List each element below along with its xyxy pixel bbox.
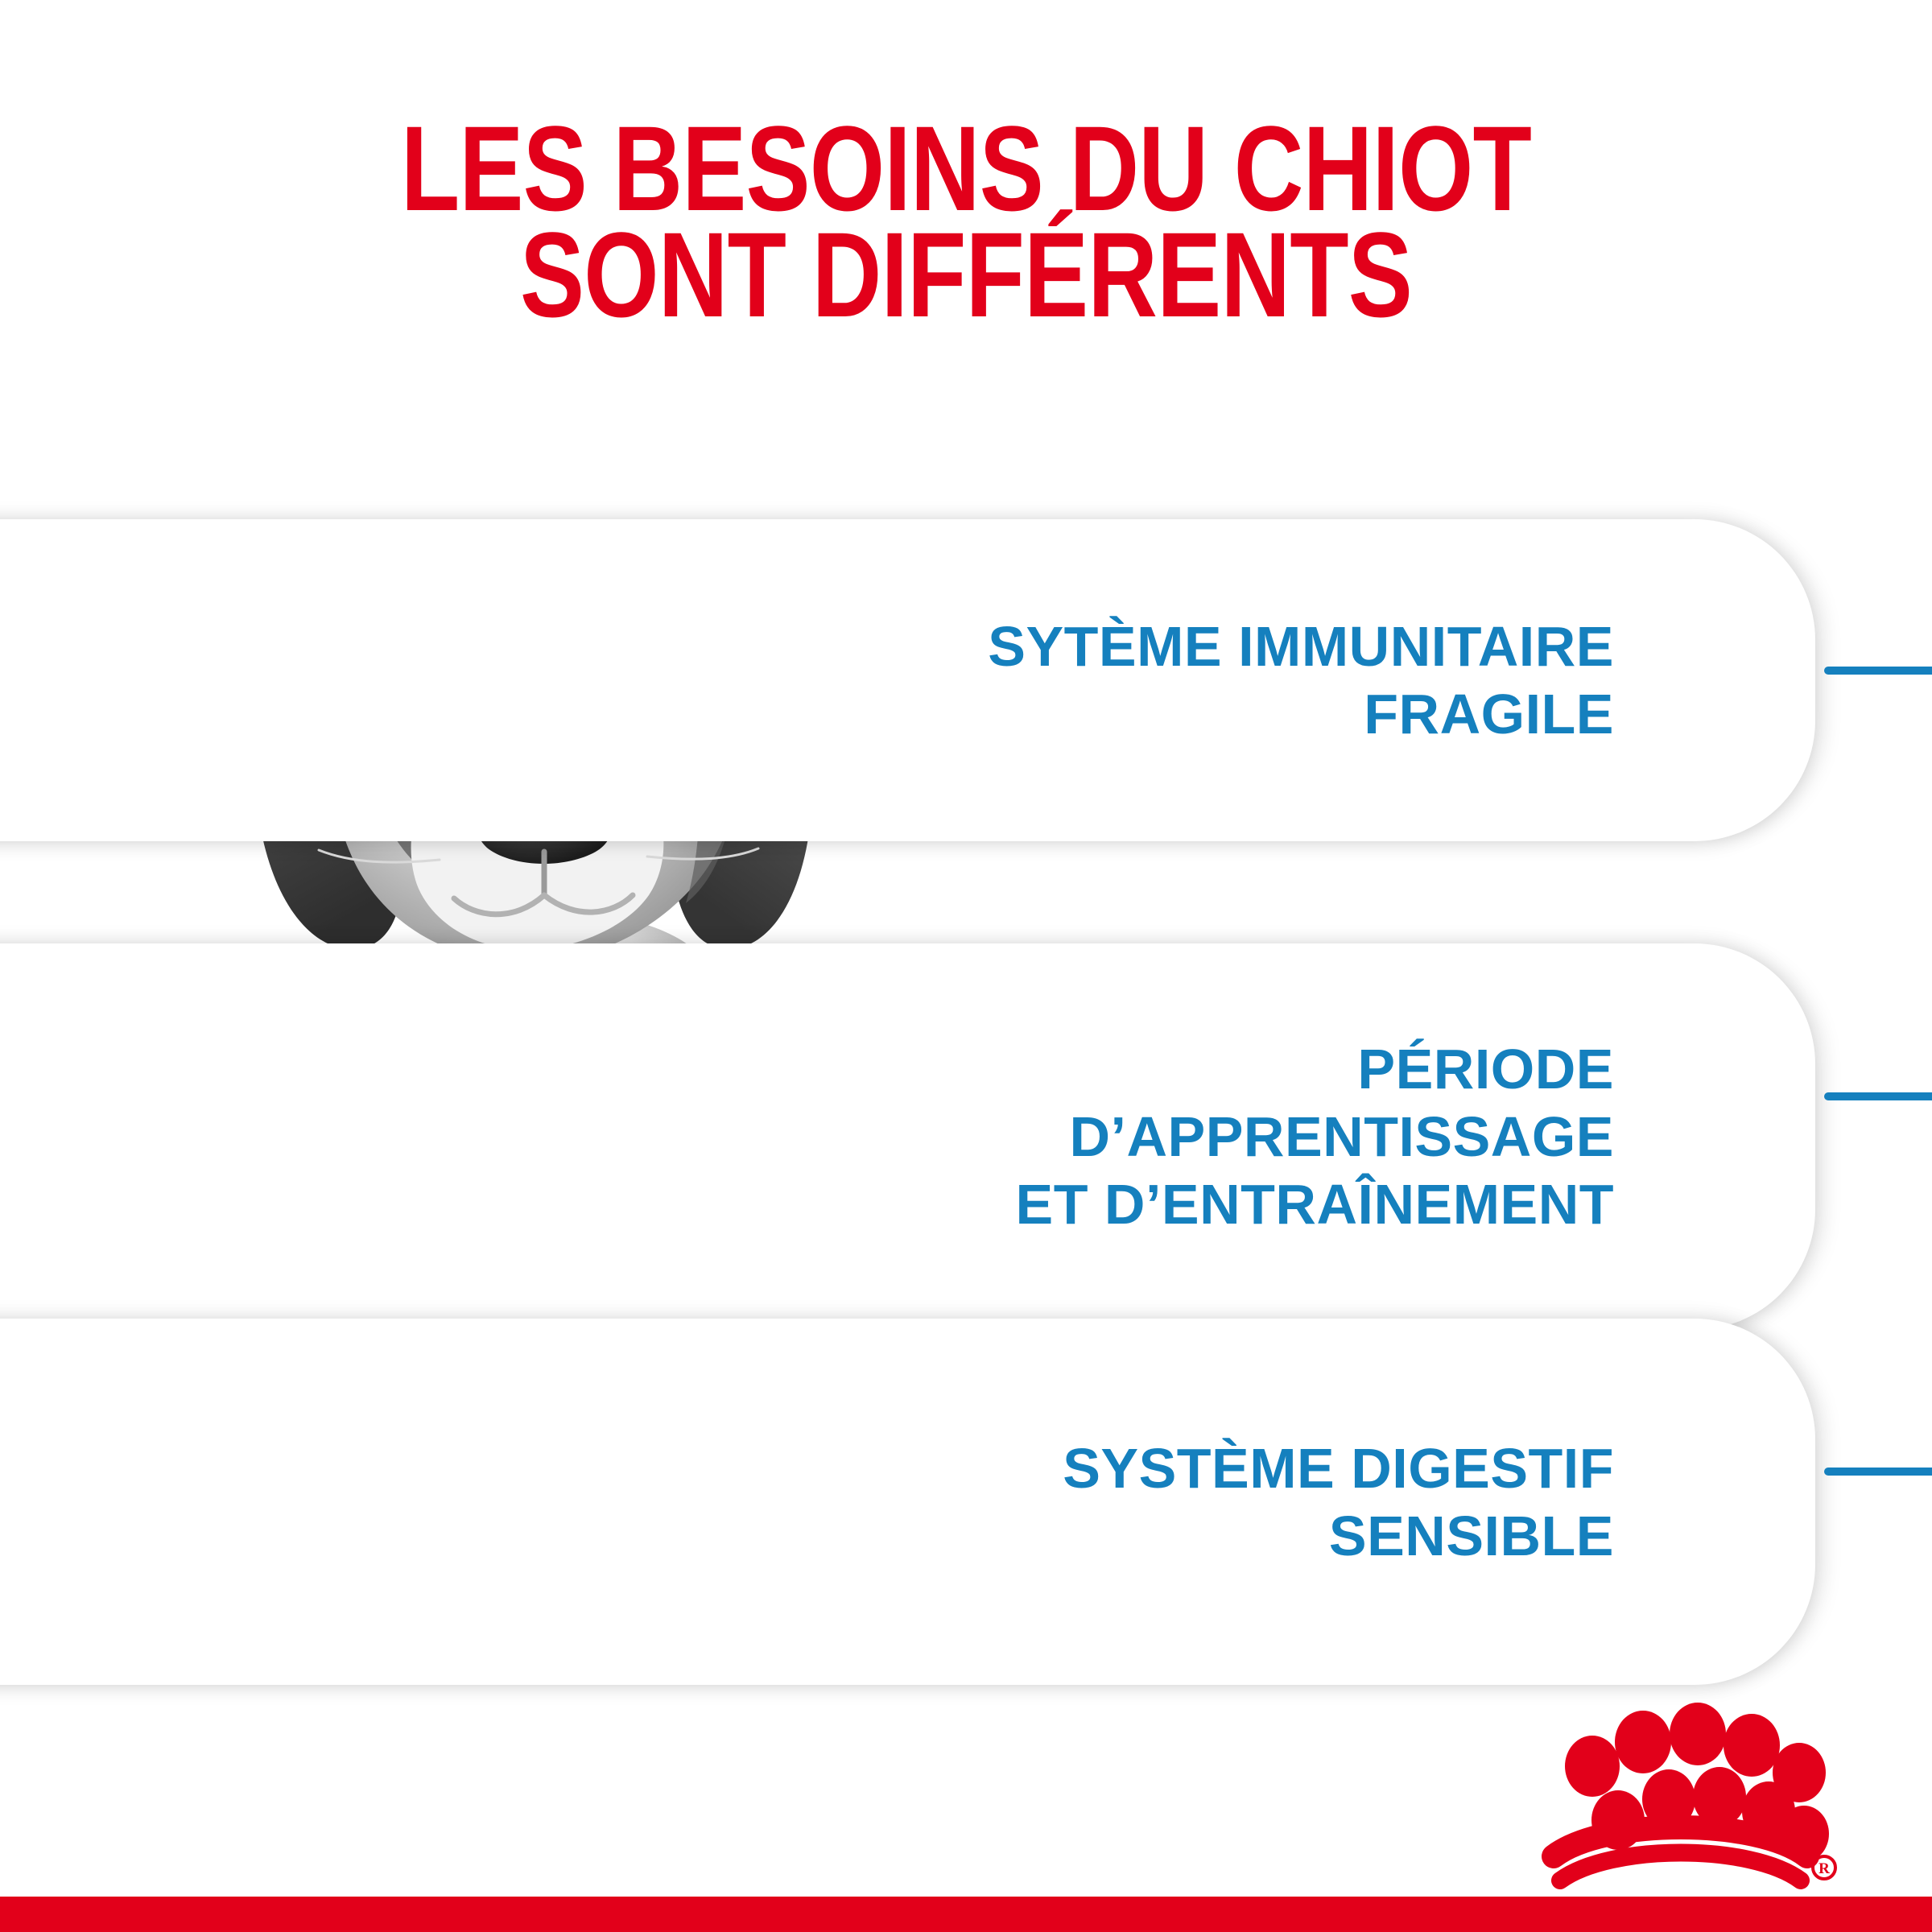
registered-trademark-icon: R bbox=[1813, 1856, 1835, 1879]
callout-line: SYTÈME IMMUNITAIRE bbox=[988, 613, 1614, 680]
royal-canin-crown-icon: R bbox=[1516, 1689, 1838, 1894]
callout-panel-digestive-system: SYSTÈME DIGESTIF SENSIBLE bbox=[0, 1319, 1815, 1685]
headline-line-1: LES BESOINS DU CHIOT bbox=[193, 115, 1739, 221]
callout-line: ET D’ENTRAÎNEMENT bbox=[1016, 1170, 1615, 1238]
svg-text:R: R bbox=[1818, 1860, 1830, 1877]
poster-canvas: LES BESOINS DU CHIOT SONT DIFFÉRENTS bbox=[0, 0, 1932, 1932]
callout-line: PÉRIODE bbox=[1016, 1035, 1615, 1103]
crown-logo-svg: R bbox=[1516, 1689, 1838, 1894]
callout-panel-immune-system: SYTÈME IMMUNITAIRE FRAGILE bbox=[0, 519, 1815, 841]
callout-line: FRAGILE bbox=[988, 680, 1614, 748]
callout-line: SYSTÈME DIGESTIF bbox=[1063, 1435, 1614, 1502]
connector-line-digestive-system bbox=[1824, 1468, 1932, 1476]
headline-line-2: SONT DIFFÉRENTS bbox=[193, 221, 1739, 328]
connector-line-learning-training bbox=[1824, 1092, 1932, 1100]
callout-line: SENSIBLE bbox=[1063, 1502, 1614, 1570]
callout-line: D’APPRENTISSAGE bbox=[1016, 1103, 1615, 1170]
callout-text-immune-system: SYTÈME IMMUNITAIRE FRAGILE bbox=[988, 613, 1815, 748]
footer-red-bar bbox=[0, 1897, 1932, 1932]
callout-text-digestive-system: SYSTÈME DIGESTIF SENSIBLE bbox=[1063, 1435, 1815, 1570]
page-title: LES BESOINS DU CHIOT SONT DIFFÉRENTS bbox=[193, 115, 1739, 328]
callout-panel-learning-training: PÉRIODE D’APPRENTISSAGE ET D’ENTRAÎNEMEN… bbox=[0, 943, 1815, 1330]
connector-line-immune-system bbox=[1824, 667, 1932, 675]
callout-text-learning-training: PÉRIODE D’APPRENTISSAGE ET D’ENTRAÎNEMEN… bbox=[1016, 1035, 1816, 1238]
